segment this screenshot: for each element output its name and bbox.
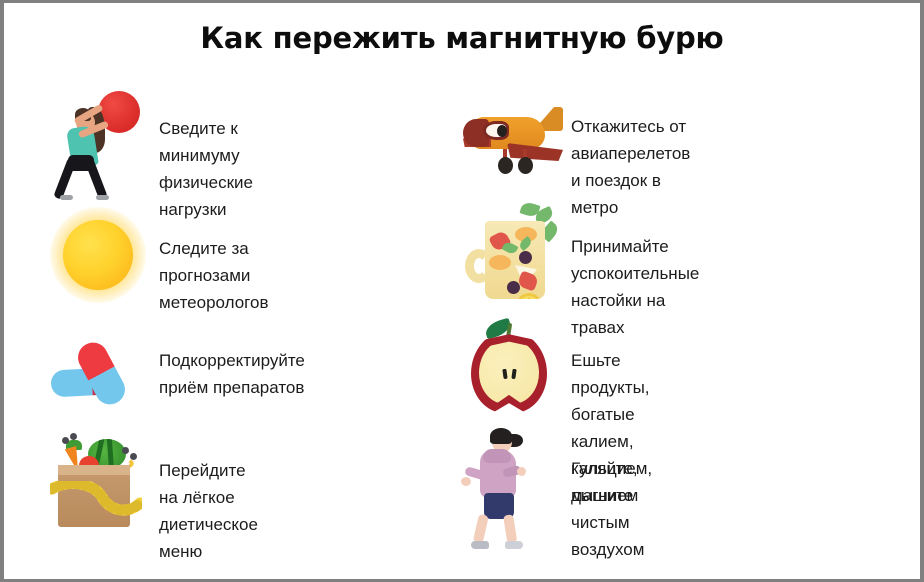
walking-woman-icon bbox=[459, 423, 571, 535]
herbal-infusion-mug-icon bbox=[459, 201, 571, 313]
page-title: Как пережить магнитную бурю bbox=[4, 21, 920, 55]
tip-label: Следите за прогнозами метеорологов bbox=[159, 235, 269, 316]
airplane-icon bbox=[459, 83, 571, 195]
tip-line-2: настойки на травах bbox=[571, 287, 699, 341]
tip-line-1: Перейдите на лёгкое bbox=[159, 457, 258, 511]
tip-line-2: и поездок в метро bbox=[571, 167, 690, 221]
tip-label: Принимайте успокоительные настойки на тр… bbox=[571, 233, 699, 341]
tip-label: Откажитесь от авиаперелетов и поездок в … bbox=[571, 113, 690, 221]
tip-line-1: Подкорректируйте bbox=[159, 347, 305, 374]
tip-label: Сведите к минимуму физические нагрузки bbox=[159, 115, 253, 223]
grocery-bag-with-measuring-tape-icon bbox=[46, 423, 158, 535]
tip-line-1: Принимайте успокоительные bbox=[571, 233, 699, 287]
tip-line-1: Гуляйте, дышите чистым bbox=[571, 455, 644, 536]
tip-label: Подкорректируйте приём препаратов bbox=[159, 347, 305, 401]
halved-apple-icon bbox=[459, 313, 571, 425]
tips-grid: Сведите к минимуму физические нагрузки С… bbox=[4, 83, 920, 579]
infographic-canvas: Как пережить магнитную бурю bbox=[4, 3, 920, 579]
woman-exercising-with-ball-icon bbox=[46, 83, 158, 195]
tip-line-2: метеорологов bbox=[159, 289, 269, 316]
sun-icon bbox=[46, 201, 158, 313]
tip-label: Перейдите на лёгкое диетическое меню bbox=[159, 457, 258, 565]
tip-line-2: воздухом bbox=[571, 536, 644, 563]
pills-capsules-icon bbox=[46, 313, 158, 425]
tip-line-2: диетическое меню bbox=[159, 511, 258, 565]
tip-line-2: приём препаратов bbox=[159, 374, 305, 401]
measuring-tape-icon bbox=[50, 481, 142, 525]
tip-line-2: физические нагрузки bbox=[159, 169, 253, 223]
tip-line-1: Следите за прогнозами bbox=[159, 235, 269, 289]
tip-label: Гуляйте, дышите чистым воздухом bbox=[571, 455, 644, 563]
tip-line-1: Ешьте продукты, богатые bbox=[571, 347, 652, 428]
tip-line-1: Сведите к минимуму bbox=[159, 115, 253, 169]
tip-line-1: Откажитесь от авиаперелетов bbox=[571, 113, 690, 167]
